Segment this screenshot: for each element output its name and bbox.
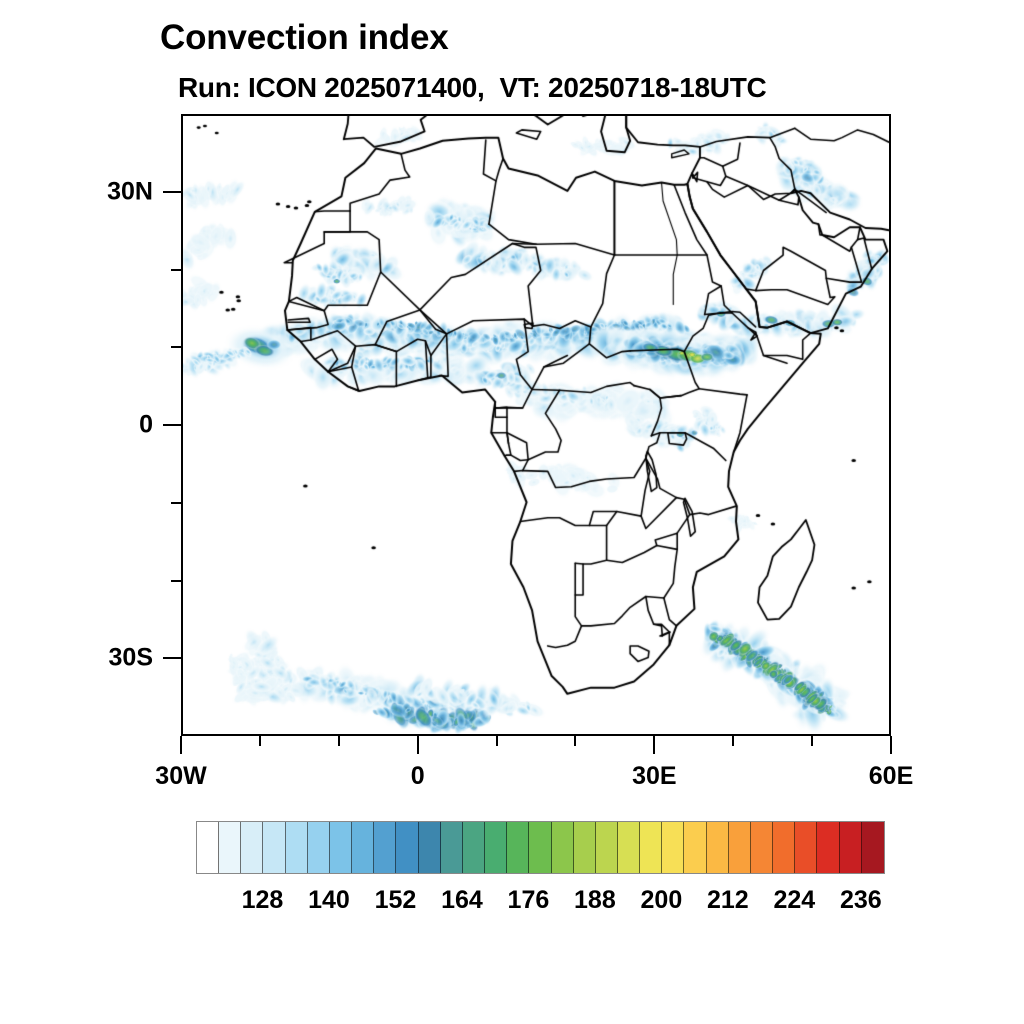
colorbar-cell bbox=[241, 822, 263, 873]
colorbar bbox=[196, 821, 885, 874]
y-axis-label-0: 30N bbox=[0, 177, 153, 206]
x-tick bbox=[259, 736, 261, 746]
colorbar-label-9: 236 bbox=[840, 886, 882, 915]
colorbar-cell bbox=[352, 822, 374, 873]
colorbar-cell bbox=[463, 822, 485, 873]
colorbar-label-5: 188 bbox=[574, 886, 616, 915]
y-axis-label-3: 0 bbox=[0, 411, 153, 440]
map-plot-area bbox=[181, 114, 891, 736]
y-tick bbox=[171, 502, 181, 504]
colorbar-label-8: 224 bbox=[773, 886, 815, 915]
colorbar-label-4: 176 bbox=[508, 886, 550, 915]
colorbar-cell bbox=[419, 822, 441, 873]
colorbar-cell bbox=[751, 822, 773, 873]
colorbar-cell bbox=[707, 822, 729, 873]
y-tick bbox=[163, 191, 181, 193]
colorbar-label-7: 212 bbox=[707, 886, 749, 915]
x-axis-label-0: 30W bbox=[155, 762, 206, 791]
y-tick bbox=[163, 657, 181, 659]
x-tick bbox=[811, 736, 813, 746]
y-axis-label-6: 30S bbox=[0, 644, 153, 673]
colorbar-label-1: 140 bbox=[308, 886, 350, 915]
x-tick bbox=[574, 736, 576, 746]
colorbar-cell bbox=[662, 822, 684, 873]
y-tick bbox=[171, 580, 181, 582]
colorbar-cell bbox=[795, 822, 817, 873]
x-tick bbox=[417, 736, 419, 754]
x-tick bbox=[496, 736, 498, 746]
colorbar-cell bbox=[840, 822, 862, 873]
y-tick bbox=[171, 346, 181, 348]
colorbar-cell bbox=[286, 822, 308, 873]
colorbar-cell bbox=[729, 822, 751, 873]
x-axis-label-3: 0 bbox=[411, 762, 425, 791]
colorbar-cell bbox=[773, 822, 795, 873]
x-tick bbox=[180, 736, 182, 754]
colorbar-cell bbox=[197, 822, 219, 873]
colorbar-cell bbox=[552, 822, 574, 873]
colorbar-cell bbox=[396, 822, 418, 873]
x-tick bbox=[653, 736, 655, 754]
colorbar-cell bbox=[308, 822, 330, 873]
x-tick bbox=[890, 736, 892, 754]
colorbar-label-3: 164 bbox=[441, 886, 483, 915]
colorbar-cell bbox=[862, 822, 884, 873]
colorbar-cell bbox=[507, 822, 529, 873]
colorbar-cell bbox=[684, 822, 706, 873]
colorbar-cell bbox=[529, 822, 551, 873]
colorbar-cell bbox=[441, 822, 463, 873]
colorbar-cell bbox=[263, 822, 285, 873]
y-tick bbox=[171, 269, 181, 271]
colorbar-cell bbox=[485, 822, 507, 873]
colorbar-cell bbox=[219, 822, 241, 873]
y-tick bbox=[163, 424, 181, 426]
map-canvas bbox=[183, 116, 889, 734]
page-title: Convection index bbox=[160, 18, 449, 58]
colorbar-cell bbox=[618, 822, 640, 873]
colorbar-label-2: 152 bbox=[375, 886, 417, 915]
x-tick bbox=[732, 736, 734, 746]
colorbar-cell bbox=[817, 822, 839, 873]
colorbar-label-0: 128 bbox=[242, 886, 284, 915]
colorbar-cell bbox=[574, 822, 596, 873]
x-axis-label-9: 60E bbox=[869, 762, 913, 791]
colorbar-cell bbox=[374, 822, 396, 873]
x-tick bbox=[338, 736, 340, 746]
x-axis-label-6: 30E bbox=[632, 762, 676, 791]
colorbar-cell bbox=[640, 822, 662, 873]
colorbar-label-6: 200 bbox=[641, 886, 683, 915]
colorbar-cell bbox=[330, 822, 352, 873]
colorbar-cell bbox=[596, 822, 618, 873]
page-subtitle: Run: ICON 2025071400, VT: 20250718-18UTC bbox=[178, 72, 766, 104]
